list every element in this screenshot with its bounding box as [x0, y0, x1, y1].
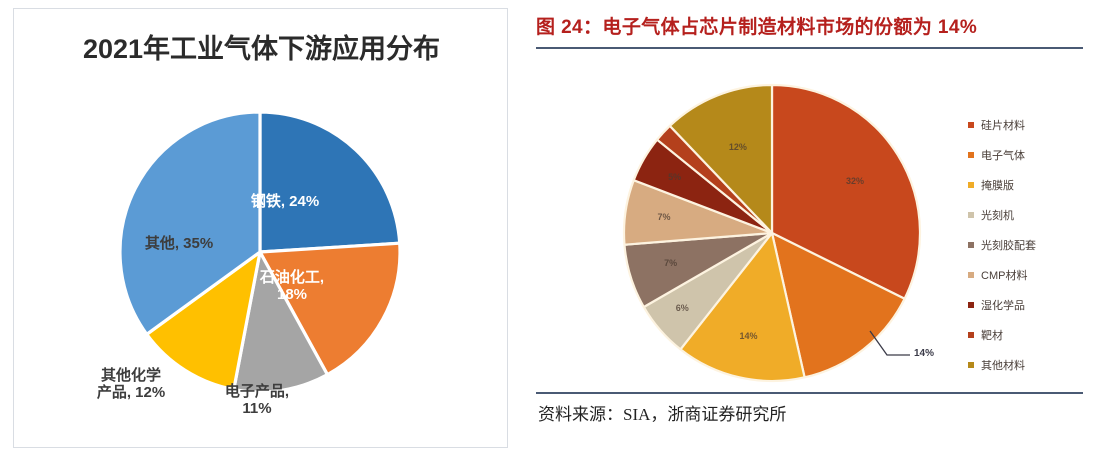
legend-swatch-icon	[968, 242, 974, 248]
slice-label-petrochemical: 石油化工, 18%	[237, 269, 347, 304]
slice-label-steel: 钢铁, 24%	[225, 193, 345, 210]
legend-item-6[interactable]: 湿化学品	[968, 290, 1098, 320]
right-pie-chart: 14% 32%14%6%7%7%5%12%	[622, 83, 922, 383]
slice-label-other-chemicals-line2: 产品, 12%	[97, 384, 165, 401]
source-divider	[536, 392, 1083, 394]
slice-label-other-chemicals-line1: 其他化学	[101, 367, 161, 384]
right-chart-panel: 图 24：电子气体占芯片制造材料市场的份额为 14% 14% 32%14%6%7…	[530, 0, 1100, 452]
legend-item-label: 电子气体	[981, 147, 1025, 163]
right-slice-label-3: 6%	[676, 303, 689, 313]
legend-swatch-icon	[968, 182, 974, 188]
legend-swatch-icon	[968, 332, 974, 338]
right-slice-label-8: 12%	[729, 142, 747, 152]
legend-item-0[interactable]: 硅片材料	[968, 110, 1098, 140]
legend-item-label: 靶材	[981, 327, 1003, 343]
legend-item-label: CMP材料	[981, 267, 1027, 283]
legend-item-2[interactable]: 掩膜版	[968, 170, 1098, 200]
legend-item-7[interactable]: 靶材	[968, 320, 1098, 350]
figure-title: 图 24：电子气体占芯片制造材料市场的份额为 14%	[536, 12, 977, 39]
legend-item-label: 其他材料	[981, 357, 1025, 373]
pie-slice-0	[260, 112, 400, 252]
legend-item-label: 光刻机	[981, 207, 1014, 223]
callout-label-electronic-gas: 14%	[914, 348, 934, 359]
legend-item-label: 硅片材料	[981, 117, 1025, 133]
legend-item-5[interactable]: CMP材料	[968, 260, 1098, 290]
legend-swatch-icon	[968, 212, 974, 218]
right-slice-label-6: 5%	[668, 172, 681, 182]
right-slice-label-0: 32%	[846, 176, 864, 186]
slice-label-electronics-line1: 电子产品,	[225, 383, 289, 400]
slice-label-other-chemicals: 其他化学 产品, 12%	[76, 367, 186, 402]
slice-label-petrochemical-line1: 石油化工,	[260, 269, 324, 286]
left-chart-title: 2021年工业气体下游应用分布	[14, 27, 509, 66]
source-text: 资料来源：SIA，浙商证券研究所	[538, 400, 786, 425]
slice-label-petrochemical-line2: 18%	[277, 286, 307, 303]
legend-item-4[interactable]: 光刻胶配套	[968, 230, 1098, 260]
screenshot-root: 2021年工业气体下游应用分布 钢铁, 24% 石油化工, 18% 电子产品, …	[0, 0, 1108, 452]
legend-swatch-icon	[968, 122, 974, 128]
legend-item-label: 掩膜版	[981, 177, 1014, 193]
left-chart-panel: 2021年工业气体下游应用分布 钢铁, 24% 石油化工, 18% 电子产品, …	[13, 8, 508, 448]
right-slice-label-2: 14%	[740, 331, 758, 341]
right-slice-label-4: 7%	[664, 258, 677, 268]
legend-swatch-icon	[968, 272, 974, 278]
right-pie-svg	[622, 83, 922, 383]
legend-item-label: 湿化学品	[981, 297, 1025, 313]
legend-item-label: 光刻胶配套	[981, 237, 1036, 253]
slice-label-electronics-line2: 11%	[242, 400, 271, 417]
right-chart-legend: 硅片材料电子气体掩膜版光刻机光刻胶配套CMP材料湿化学品靶材其他材料	[968, 110, 1098, 380]
legend-item-8[interactable]: 其他材料	[968, 350, 1098, 380]
legend-swatch-icon	[968, 302, 974, 308]
slice-label-electronics: 电子产品, 11%	[202, 383, 312, 418]
legend-swatch-icon	[968, 362, 974, 368]
legend-item-3[interactable]: 光刻机	[968, 200, 1098, 230]
legend-item-1[interactable]: 电子气体	[968, 140, 1098, 170]
slice-label-other: 其他, 35%	[124, 235, 234, 252]
right-slice-label-5: 7%	[658, 212, 671, 222]
legend-swatch-icon	[968, 152, 974, 158]
left-pie-chart: 钢铁, 24% 石油化工, 18% 电子产品, 11% 其他化学 产品, 12%…	[117, 109, 403, 395]
title-divider	[536, 47, 1083, 49]
